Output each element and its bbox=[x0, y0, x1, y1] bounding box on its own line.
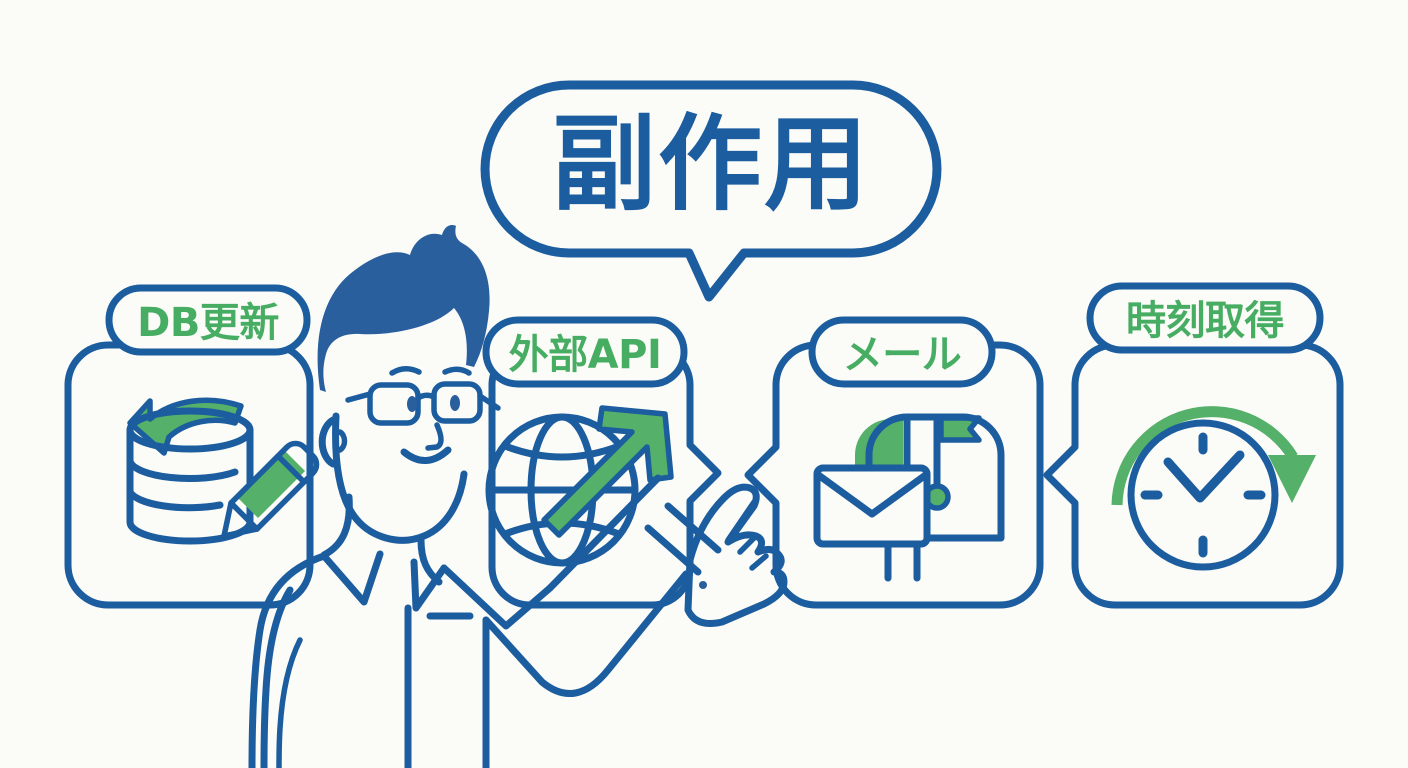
card-label-get-time: 時刻取得 bbox=[1100, 301, 1310, 341]
card-label-db-update: DB更新 bbox=[119, 303, 297, 343]
speech-bubble-text: 副作用 bbox=[520, 112, 902, 216]
illustration-canvas: DB更新 外部API メール 時刻取得 副作用 bbox=[0, 0, 1408, 768]
card-label-mail: メール bbox=[822, 335, 982, 375]
card-label-external-api: 外部API bbox=[496, 335, 674, 375]
